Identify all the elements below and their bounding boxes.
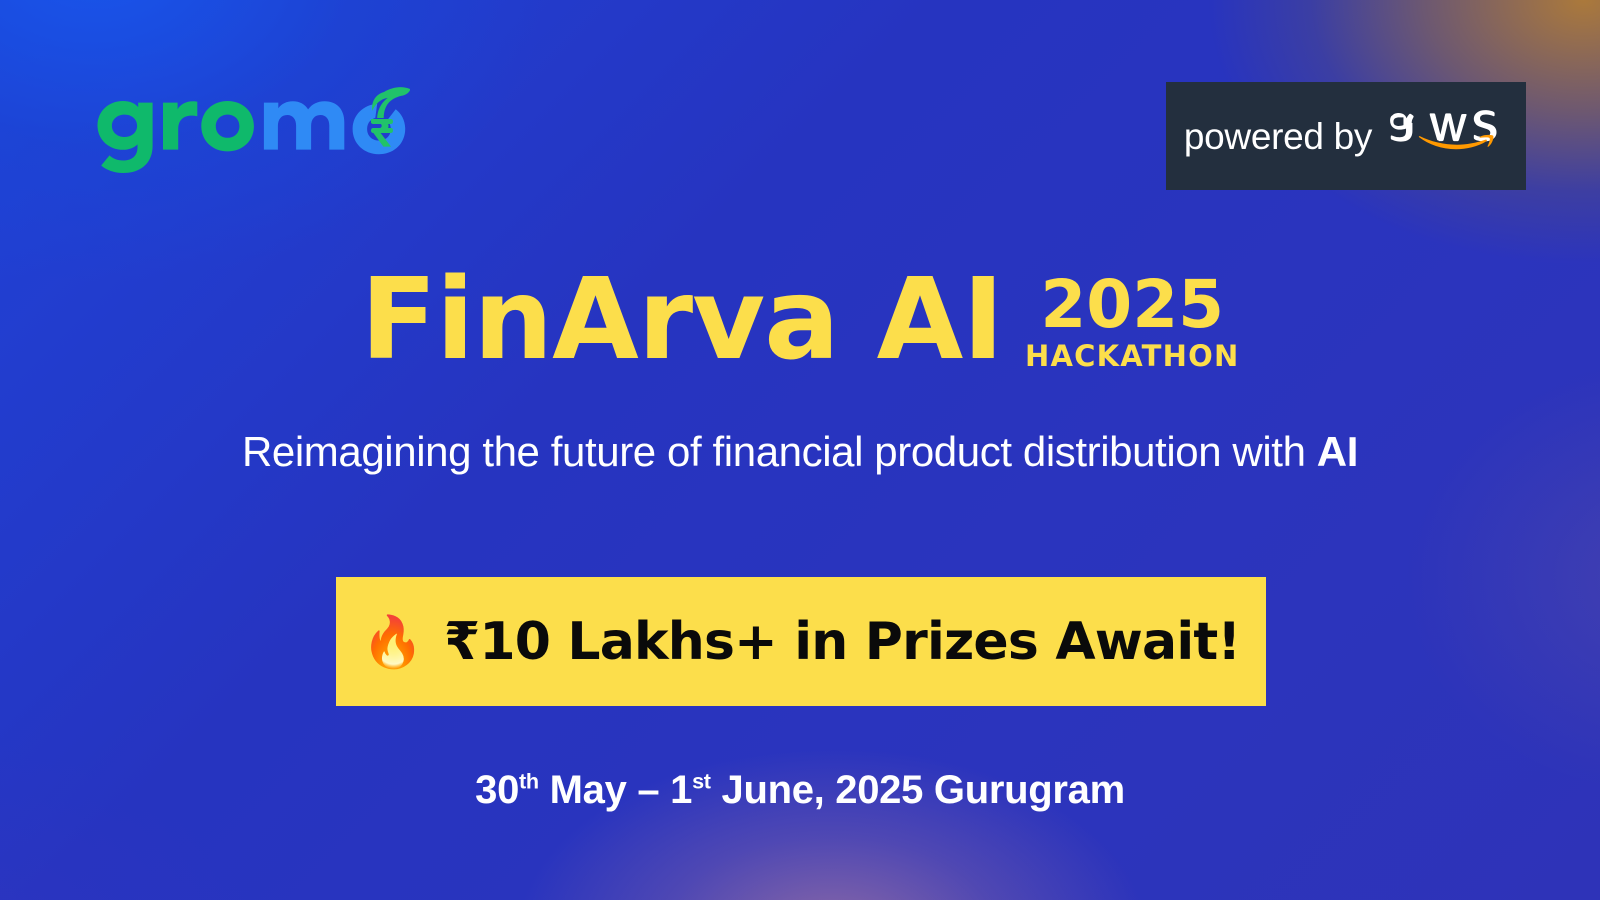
event-start-month: May <box>539 768 638 812</box>
event-start-ordinal: th <box>519 769 539 794</box>
hero-section: FinArva AI 2025 HACKATHON Reimagining th… <box>0 0 1600 900</box>
hero-title-row: FinArva AI 2025 HACKATHON <box>0 264 1600 376</box>
hero-subtitle: Reimagining the future of financial prod… <box>0 428 1600 476</box>
hero-title-side: 2025 HACKATHON <box>1025 264 1239 371</box>
fire-emoji: 🔥 <box>362 617 424 667</box>
prize-banner-text: ₹10 Lakhs+ in Prizes Await! <box>444 612 1240 672</box>
hero-title-year: 2025 <box>1040 272 1224 338</box>
event-end-ordinal: st <box>692 769 711 794</box>
event-start-day: 30 <box>475 768 519 812</box>
prize-banner: 🔥 ₹10 Lakhs+ in Prizes Await! <box>336 577 1266 706</box>
event-date-location: 30th May – 1st June, 2025 Gurugram <box>0 768 1600 813</box>
event-end-rest: June, 2025 Gurugram <box>711 768 1125 812</box>
event-end-day: 1 <box>670 768 692 812</box>
hero-subtitle-emphasis: AI <box>1317 428 1358 475</box>
poster-canvas: powered by FinArva AI 2025 HACKATHON <box>0 0 1600 900</box>
hero-subtitle-lead: Reimagining the future of financial prod… <box>242 428 1317 475</box>
event-date-dash: – <box>637 768 670 812</box>
hero-title-kicker: HACKATHON <box>1025 342 1239 371</box>
page-title: FinArva AI <box>361 264 1003 376</box>
